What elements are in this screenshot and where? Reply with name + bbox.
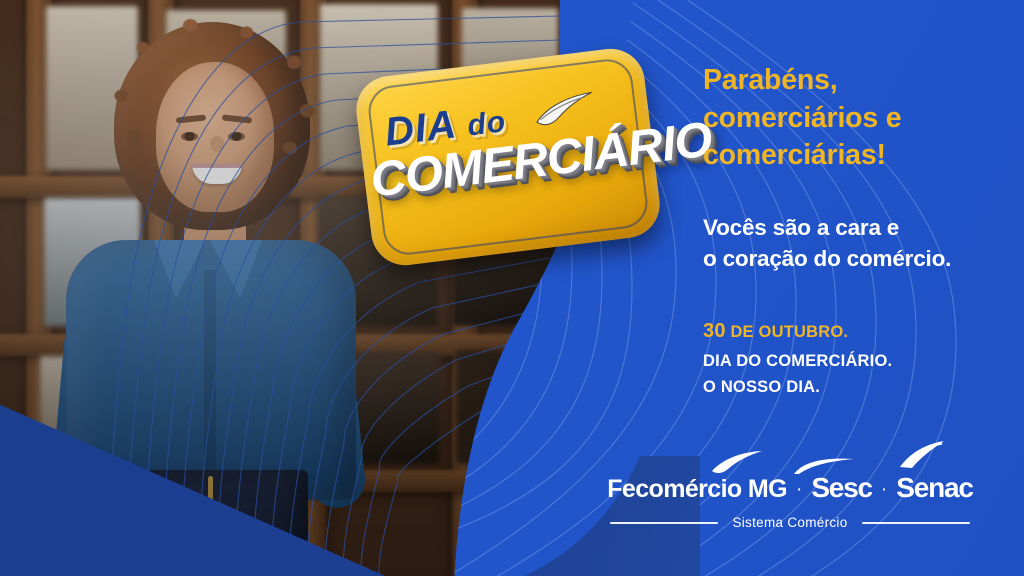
logo-lockup: Fecomércio MG · Sesc · Senac Sistema Com… — [580, 462, 1000, 530]
headline-line-2: comerciários e — [703, 100, 1003, 138]
headline-line-1: Parabéns, — [703, 62, 1003, 100]
rule-right — [862, 522, 970, 524]
date-block: 30 DE OUTUBRO. DIA DO COMERCIÁRIO. O NOS… — [703, 316, 1015, 400]
system-label: Sistema Comércio — [732, 515, 847, 530]
subheadline-line-2: o coração do comércio. — [703, 244, 1015, 275]
logo-senac[interactable]: Senac — [896, 474, 973, 502]
date-line-1: 30 DE OUTUBRO. — [703, 316, 1015, 348]
dia-do-comerciario-badge: DIA do COMERCIÁRIO — [353, 45, 664, 269]
system-row: Sistema Comércio — [580, 515, 1000, 530]
date-line-2: DIA DO COMERCIÁRIO. — [703, 348, 1015, 374]
subheadline-line-1: Vocês são a cara e — [703, 213, 1015, 244]
logo-row: Fecomércio MG · Sesc · Senac — [580, 462, 1000, 502]
logo-separator-1: · — [796, 480, 802, 502]
date-line-3: O NOSSO DIA. — [703, 374, 1015, 400]
logo-separator-2: · — [881, 480, 887, 502]
banner-root: DIA do COMERCIÁRIO Parabéns, comerciário… — [0, 0, 1024, 576]
headline-line-3: comerciárias! — [703, 137, 1003, 175]
logo-sesc[interactable]: Sesc — [811, 474, 872, 502]
rule-left — [610, 522, 718, 524]
headline: Parabéns, comerciários e comerciárias! — [703, 62, 1003, 175]
logo-fecomercio[interactable]: Fecomércio MG — [607, 477, 787, 502]
subheadline: Vocês são a cara e o coração do comércio… — [703, 213, 1015, 274]
date-day: 30 — [703, 320, 726, 342]
date-month: DE OUTUBRO. — [726, 323, 848, 341]
